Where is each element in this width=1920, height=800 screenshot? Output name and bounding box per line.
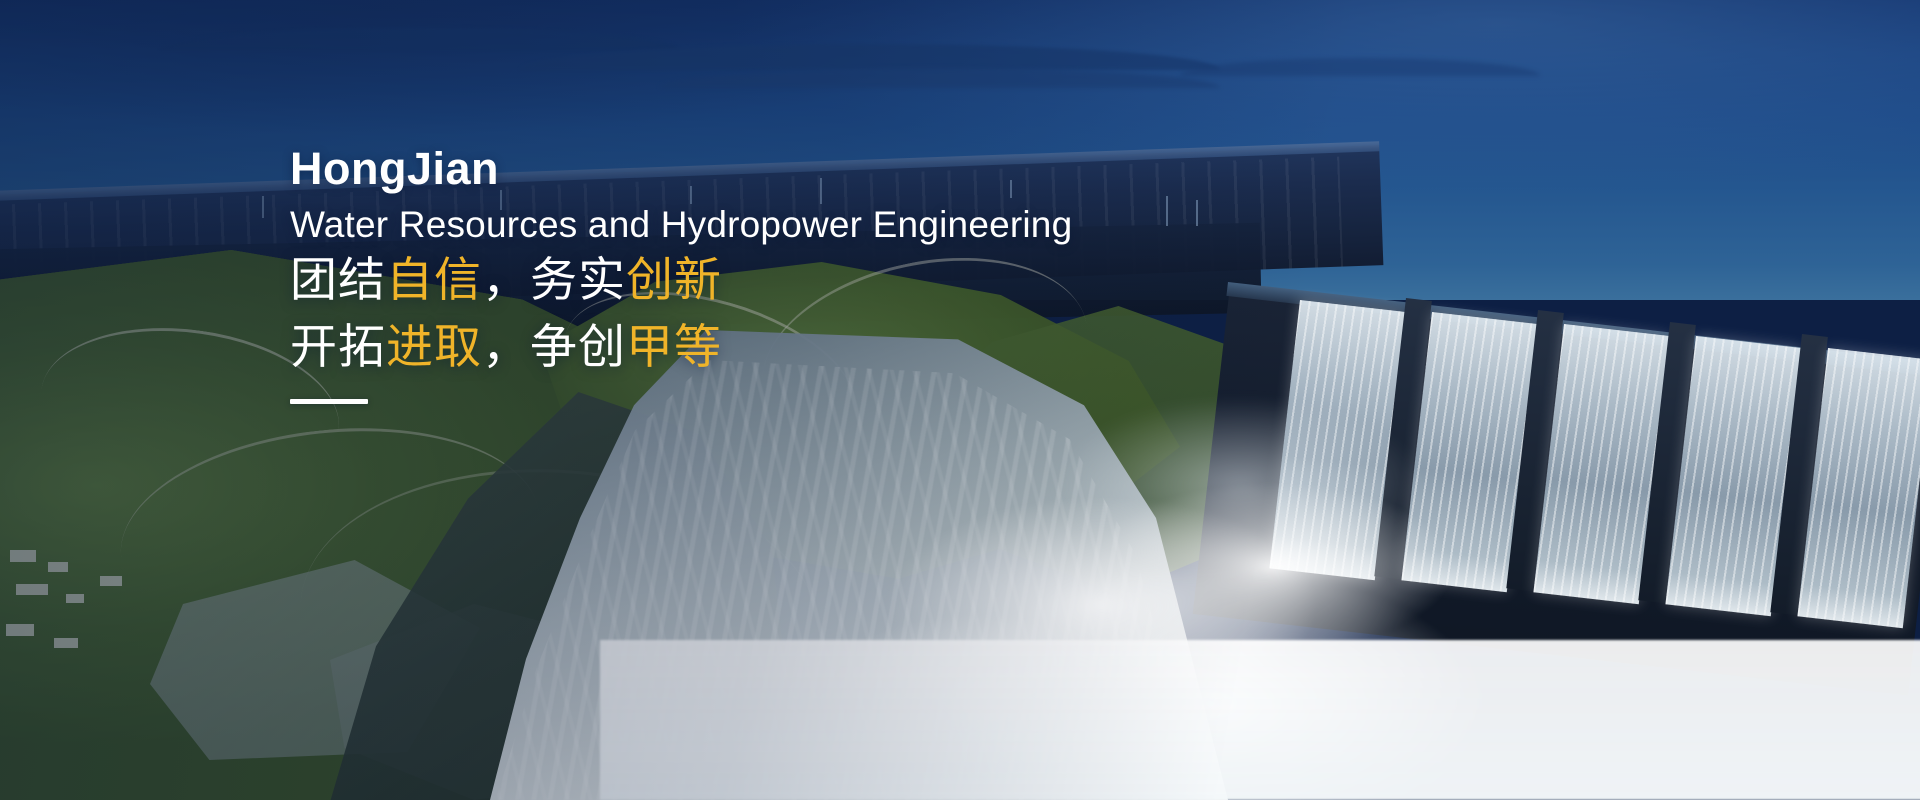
chinese-slogan: 团结自信，务实创新 开拓进取，争创甲等 <box>290 247 1290 380</box>
slogan-l2-seg-1: 开拓 <box>290 320 386 373</box>
slogan-l2-seg-3: ，争创 <box>482 320 626 373</box>
slogan-line-2: 开拓进取，争创甲等 <box>290 314 1290 381</box>
slogan-l1-seg-1: 团结 <box>290 253 386 306</box>
slogan-l2-seg-2: 进取 <box>386 320 482 373</box>
slogan-l1-seg-3: ，务实 <box>482 253 626 306</box>
slogan-l1-seg-2: 自信 <box>386 253 482 306</box>
english-tagline: Water Resources and Hydropower Engineeri… <box>290 203 1290 247</box>
hero-banner: HongJian Water Resources and Hydropower … <box>0 0 1920 800</box>
brand-name: HongJian <box>290 142 1290 195</box>
accent-underline-rule <box>290 399 368 404</box>
slogan-l2-seg-4: 甲等 <box>626 320 722 373</box>
hero-copy: HongJian Water Resources and Hydropower … <box>290 142 1290 404</box>
slogan-l1-seg-4: 创新 <box>626 253 722 306</box>
slogan-line-1: 团结自信，务实创新 <box>290 247 1290 314</box>
